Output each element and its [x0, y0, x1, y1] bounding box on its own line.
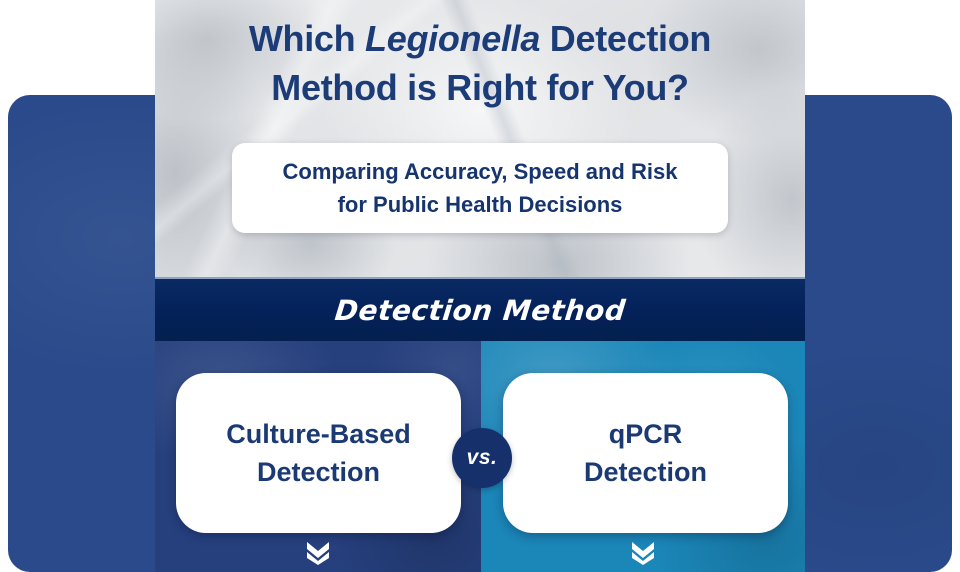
- page-title: Which Legionella Detection Method is Rig…: [155, 14, 805, 112]
- vs-badge-label: vs.: [467, 446, 498, 470]
- chevron-wrap-left: [155, 540, 481, 566]
- method-card-qpcr-line-2: Detection: [584, 453, 707, 491]
- infographic-root: Which Legionella Detection Method is Rig…: [0, 0, 960, 572]
- header-section: Which Legionella Detection Method is Rig…: [155, 0, 805, 277]
- detection-method-banner-label: Detection Method: [333, 294, 627, 327]
- comparison-column-culture: Culture-Based Detection: [155, 341, 481, 572]
- vs-badge: vs.: [452, 428, 512, 488]
- subtitle-line-2: for Public Health Decisions: [338, 188, 623, 221]
- method-card-culture-line-2: Detection: [257, 453, 380, 491]
- method-card-culture-based[interactable]: Culture-Based Detection: [176, 373, 461, 533]
- subtitle-line-1: Comparing Accuracy, Speed and Risk: [283, 155, 678, 188]
- detection-method-banner: Detection Method: [155, 277, 805, 341]
- double-chevron-down-icon: [629, 540, 657, 566]
- chevron-wrap-right: [481, 540, 805, 566]
- page-title-line-1: Which Legionella Detection: [155, 14, 805, 63]
- double-chevron-down-icon: [304, 540, 332, 566]
- comparison-column-qpcr: qPCR Detection: [481, 341, 805, 572]
- method-card-qpcr-line-1: qPCR: [609, 415, 683, 453]
- page-title-line-2: Method is Right for You?: [155, 63, 805, 112]
- subtitle-card: Comparing Accuracy, Speed and Risk for P…: [232, 143, 728, 233]
- method-card-culture-line-1: Culture-Based: [226, 415, 411, 453]
- page-title-line-1-pre: Which: [249, 18, 365, 59]
- page-title-emphasis-legionella: Legionella: [365, 18, 540, 59]
- page-title-line-1-post: Detection: [540, 18, 711, 59]
- method-card-qpcr[interactable]: qPCR Detection: [503, 373, 788, 533]
